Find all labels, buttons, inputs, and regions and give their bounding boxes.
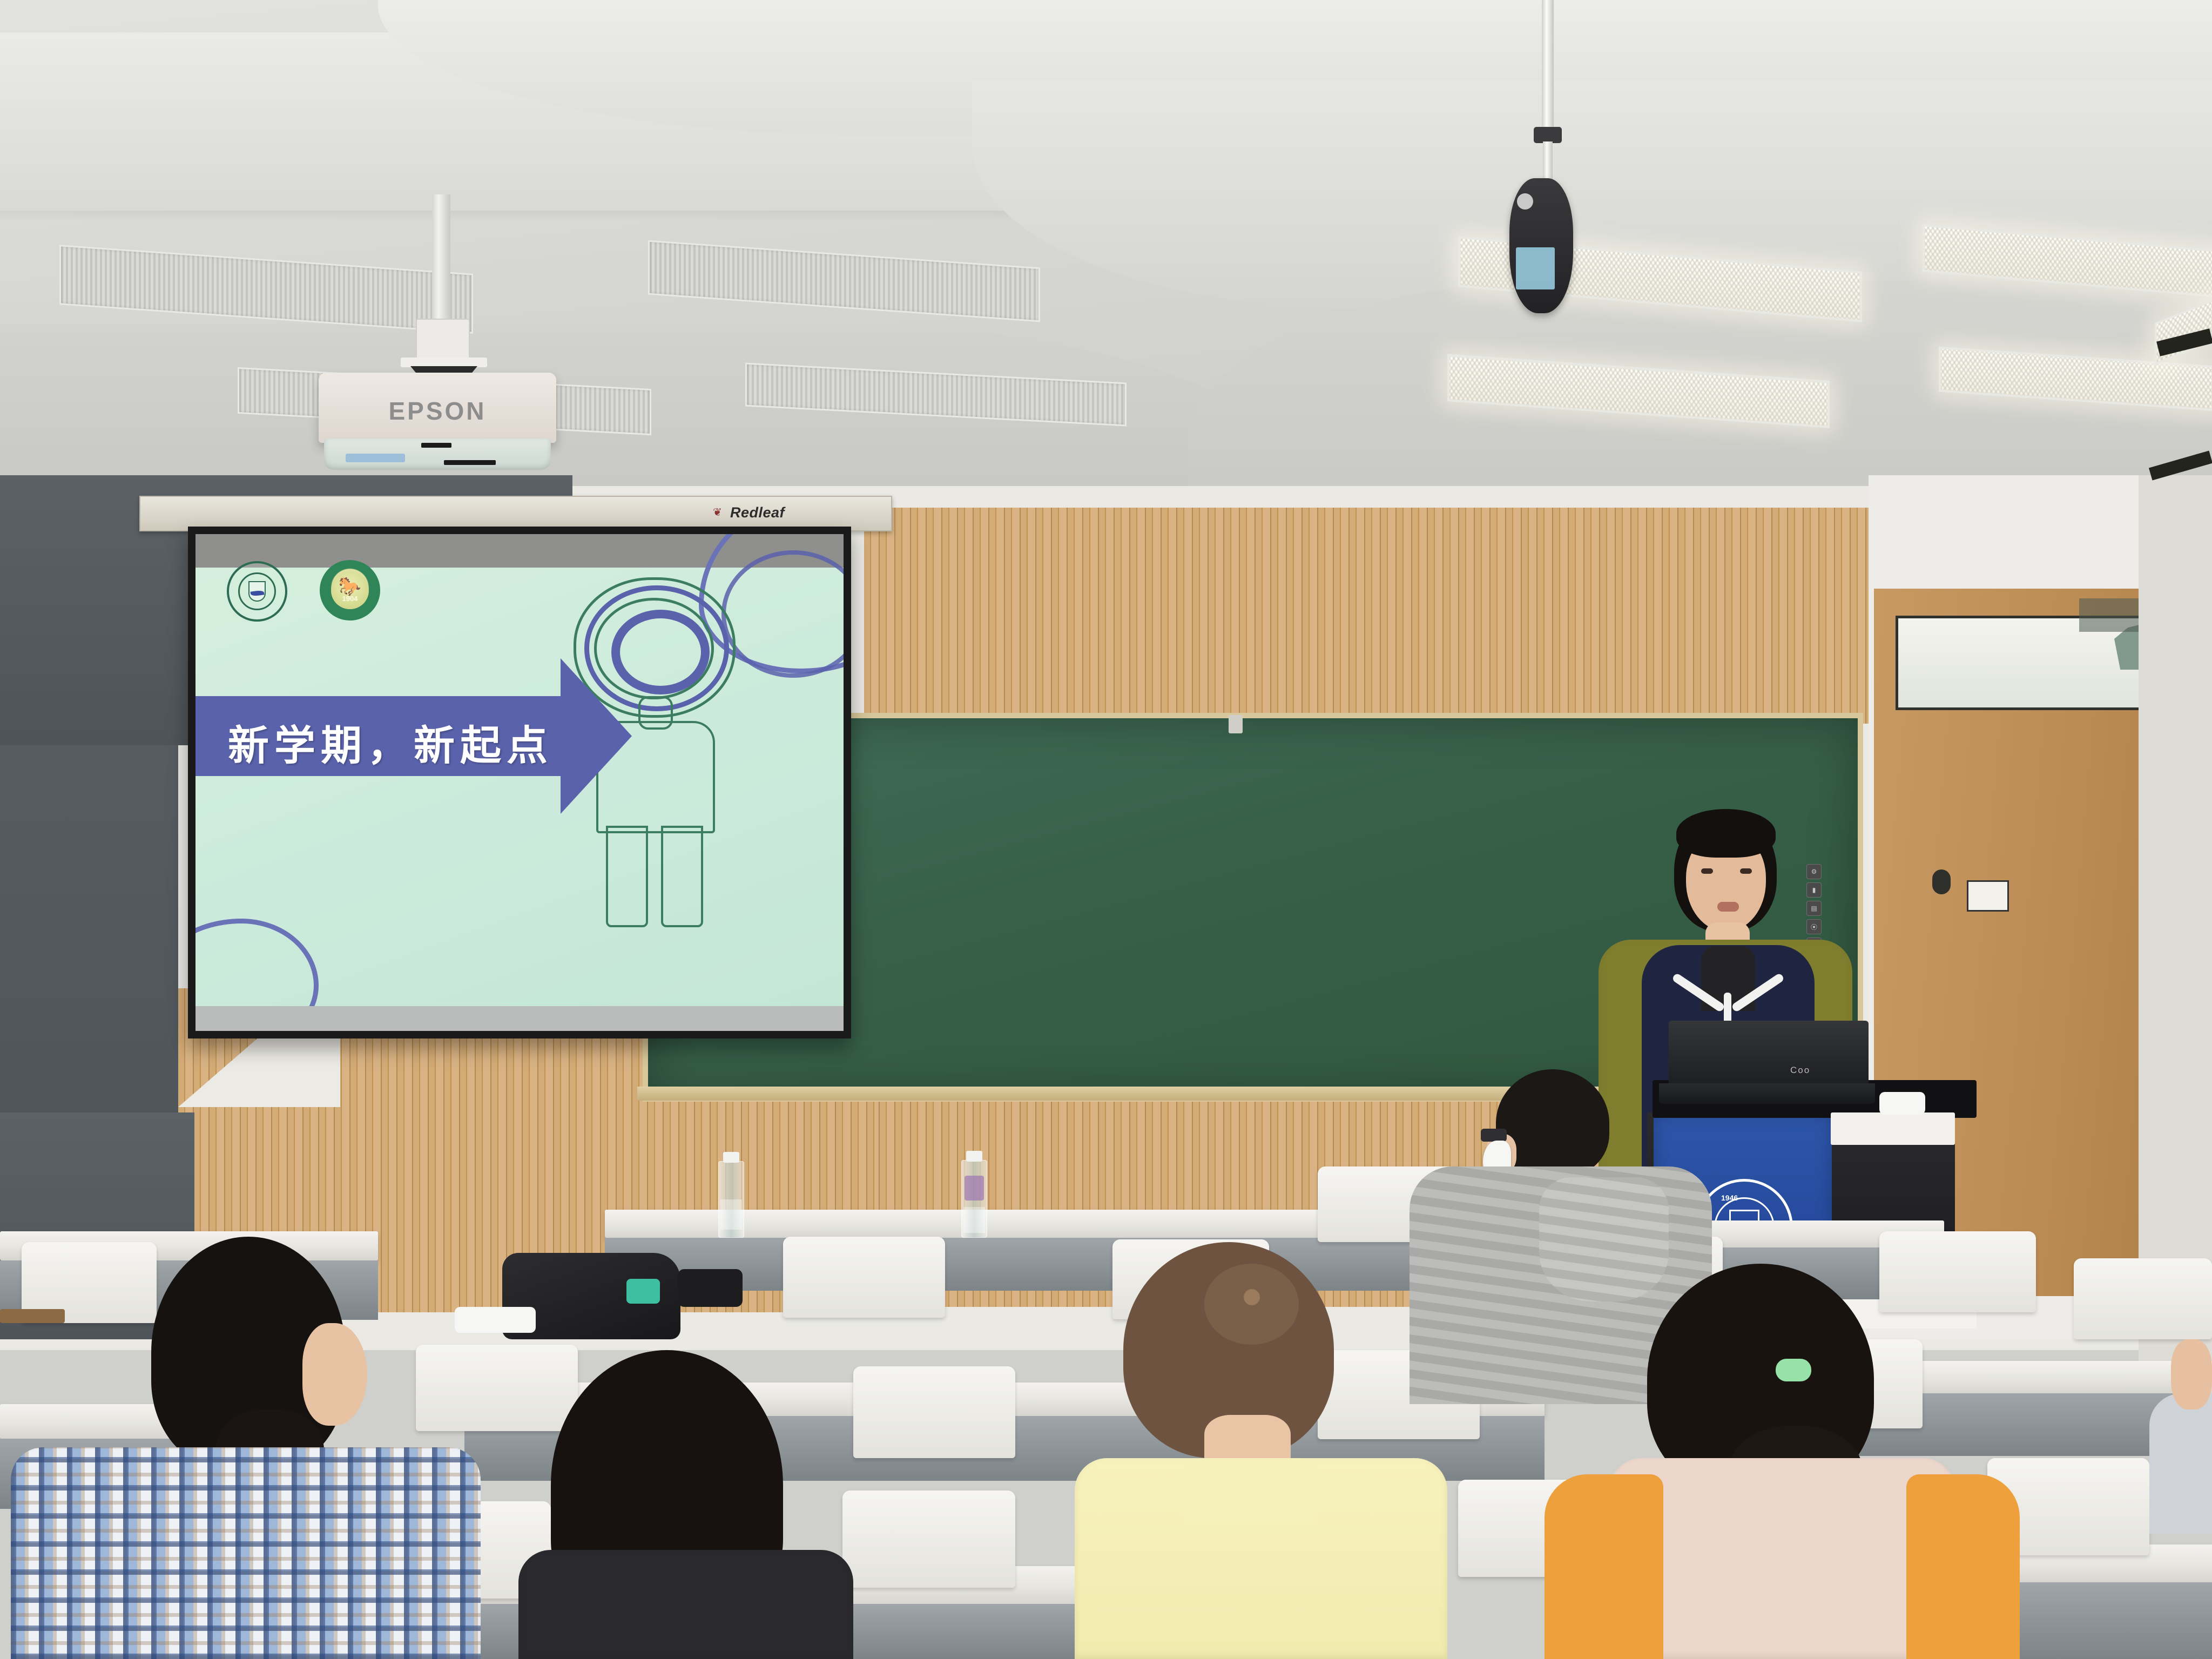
student-orange-sleeve-right bbox=[1906, 1474, 2020, 1659]
projector-brand-label: EPSON bbox=[319, 396, 556, 426]
jilin-university-seal-icon bbox=[227, 561, 287, 622]
student-gray-hoodie-hood bbox=[1539, 1177, 1669, 1301]
projector-mount-pole bbox=[432, 194, 450, 324]
seal-inner-ring bbox=[238, 572, 276, 610]
figure-leg-left bbox=[606, 826, 648, 927]
backpack-charm bbox=[626, 1279, 660, 1304]
student-partial-right-shoulder bbox=[2149, 1393, 2212, 1534]
bottle-cap bbox=[723, 1152, 739, 1163]
water-bottle[interactable] bbox=[961, 1160, 987, 1238]
redleaf-leaf-icon: ❦ bbox=[713, 505, 722, 519]
far-right-wall bbox=[2139, 475, 2212, 1393]
white-cloth bbox=[455, 1307, 536, 1333]
hanging-device-label bbox=[1516, 247, 1555, 289]
water-bottle[interactable] bbox=[718, 1161, 744, 1238]
tissue-pack[interactable] bbox=[1879, 1092, 1925, 1115]
chair-back[interactable] bbox=[783, 1237, 945, 1318]
door-lever-handle[interactable] bbox=[1932, 869, 1951, 894]
door-lock-plate bbox=[1967, 880, 2009, 912]
hanging-device bbox=[1509, 178, 1573, 313]
chair-back[interactable] bbox=[1879, 1231, 2036, 1312]
projector-mount-plate bbox=[401, 358, 487, 367]
bottle-label bbox=[963, 1207, 985, 1233]
projector-lens-housing bbox=[324, 439, 551, 470]
projector-vent-slot bbox=[421, 443, 451, 448]
projector-body: EPSON bbox=[319, 373, 556, 443]
smartboard-settings-icon[interactable]: ⚙ bbox=[1806, 864, 1822, 879]
blackboard-clip bbox=[1229, 715, 1243, 733]
podium-side-shelf bbox=[1831, 1112, 1955, 1145]
crest-year-label: 1946 bbox=[1721, 1193, 1738, 1202]
hanging-device-button bbox=[1517, 193, 1533, 210]
projector-sticker bbox=[346, 454, 405, 462]
student-yellow-collar bbox=[1183, 1458, 1318, 1523]
projection-screen-surface[interactable]: 🐎 1904 新学期，新起点 bbox=[188, 527, 851, 1038]
chair-back[interactable] bbox=[853, 1366, 1015, 1458]
bottle-label bbox=[720, 1199, 742, 1230]
figure-leg-right bbox=[661, 826, 703, 927]
student-partial-right-arm bbox=[2171, 1339, 2212, 1410]
animal-science-college-seal-icon: 🐎 1904 bbox=[320, 560, 380, 621]
bottle-brand-label bbox=[965, 1176, 984, 1201]
student-black-top-torso bbox=[518, 1550, 853, 1659]
presenter-mouth bbox=[1717, 902, 1739, 912]
horse-icon: 🐎 bbox=[339, 577, 361, 596]
chair-back[interactable] bbox=[416, 1345, 578, 1431]
student-yellow-hair-bun-swirl bbox=[1219, 1270, 1284, 1324]
chair-back[interactable] bbox=[842, 1491, 1015, 1588]
smartboard-display-icon[interactable]: ▮ bbox=[1806, 882, 1822, 898]
projector-vent-slot bbox=[444, 460, 496, 465]
ceiling-device-pole bbox=[1542, 0, 1554, 130]
projector-mount-bracket bbox=[416, 319, 470, 363]
bag-second[interactable] bbox=[678, 1269, 743, 1307]
bottle-cap bbox=[966, 1151, 982, 1162]
slide-arrow-head bbox=[561, 658, 632, 814]
presentation-slide: 🐎 1904 新学期，新起点 bbox=[195, 534, 844, 1031]
seal-year-label: 1904 bbox=[342, 595, 358, 603]
presenter-eye-right bbox=[1740, 868, 1752, 874]
screen-brand-label: Redleaf bbox=[730, 504, 785, 521]
presenter-eye-left bbox=[1701, 868, 1713, 874]
desk-item-phone[interactable] bbox=[0, 1309, 65, 1323]
smartboard-target-icon[interactable]: ⦿ bbox=[1806, 919, 1822, 934]
chair-back[interactable] bbox=[2074, 1258, 2212, 1339]
slide-bottom-band bbox=[195, 1006, 844, 1031]
slide-title: 新学期，新起点 bbox=[228, 712, 553, 772]
student-orange-sleeve-left bbox=[1545, 1474, 1663, 1659]
smartboard-layout-icon[interactable]: ▤ bbox=[1806, 901, 1822, 916]
presenter-hairline bbox=[1676, 809, 1776, 858]
student-plaid-torso bbox=[11, 1447, 481, 1659]
green-scrunchie-icon bbox=[1776, 1359, 1811, 1381]
wood-panel-upper bbox=[864, 508, 1869, 724]
ceiling-device-joint bbox=[1534, 127, 1562, 143]
presenter-laptop-lid[interactable]: Coo bbox=[1669, 1021, 1869, 1085]
seal-core: 🐎 1904 bbox=[331, 571, 368, 609]
glasses-temple-icon bbox=[1481, 1129, 1507, 1142]
laptop-brand-mark: Coo bbox=[1790, 1065, 1810, 1076]
classroom-scene: EPSON ⚙ ▮ ▤ bbox=[0, 0, 2212, 1659]
seal-shield bbox=[248, 581, 266, 602]
presenter-laptop-base[interactable] bbox=[1659, 1083, 1875, 1104]
student-plaid-neck bbox=[302, 1323, 367, 1426]
